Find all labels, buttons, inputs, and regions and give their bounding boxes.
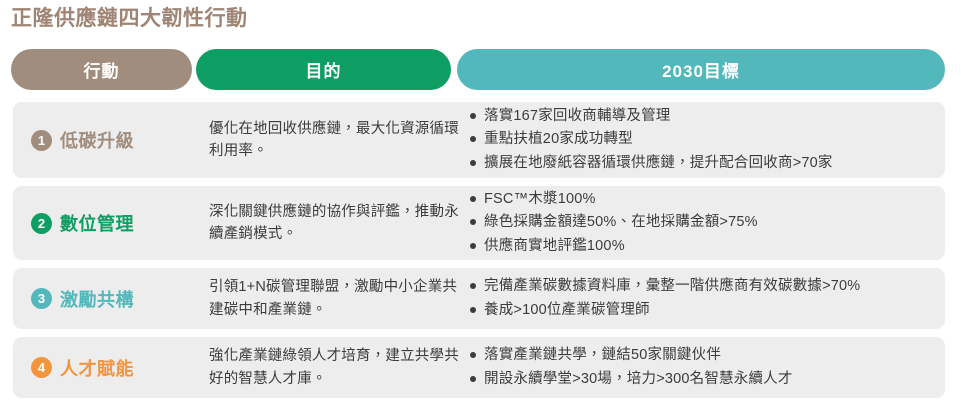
column-header-action: 行動 <box>11 49 192 90</box>
target-list-item: 重點扶植20家成功轉型 <box>470 128 945 151</box>
purpose-text: 優化在地回收供應鏈，最大化資源循環利用率。 <box>209 118 459 163</box>
purpose-cell: 深化關鍵供應鏈的協作與評鑑，推動永續產銷模式。 <box>209 186 459 260</box>
action-cell: 3 激勵共構 <box>13 268 196 329</box>
page-title: 正隆供應鏈四大韌性行動 <box>11 4 248 34</box>
target-list-item: 完備產業碳數據資料庫，彙整一階供應商有效碳數據>70% <box>470 275 945 298</box>
action-label: 人才賦能 <box>60 355 134 381</box>
supply-chain-resilience-infographic: 正隆供應鏈四大韌性行動 行動 目的 2030目標 1 低碳升級 優化在地回收供應… <box>0 0 961 409</box>
row-number-badge: 2 <box>31 213 52 234</box>
column-header-purpose: 目的 <box>196 49 451 90</box>
table-row: 4 人才賦能 強化產業鏈綠領人才培育，建立共學共好的智慧人才庫。 落實產業鏈共學… <box>13 337 945 398</box>
target-cell: 完備產業碳數據資料庫，彙整一階供應商有效碳數據>70% 養成>100位產業碳管理… <box>470 268 945 329</box>
target-list: FSC™木漿100% 綠色採購金額達50%、在地採購金額>75% 供應商實地評鑑… <box>470 188 945 258</box>
target-list: 完備產業碳數據資料庫，彙整一階供應商有效碳數據>70% 養成>100位產業碳管理… <box>470 275 945 322</box>
purpose-text: 強化產業鏈綠領人才培育，建立共學共好的智慧人才庫。 <box>209 345 459 390</box>
target-cell: 落實167家回收商輔導及管理 重點扶植20家成功轉型 擴展在地廢紙容器循環供應鏈… <box>470 102 945 178</box>
purpose-text: 深化關鍵供應鏈的協作與評鑑，推動永續產銷模式。 <box>209 201 459 246</box>
target-cell: 落實產業鏈共學，鏈結50家關鍵伙伴 開設永續學堂>30場，培力>300名智慧永續… <box>470 337 945 398</box>
target-cell: FSC™木漿100% 綠色採購金額達50%、在地採購金額>75% 供應商實地評鑑… <box>470 186 945 260</box>
target-list-item: 開設永續學堂>30場，培力>300名智慧永續人才 <box>470 368 945 391</box>
table-row: 3 激勵共構 引領1+N碳管理聯盟，激勵中小企業共建碳中和產業鏈。 完備產業碳數… <box>13 268 945 329</box>
action-label: 低碳升級 <box>60 127 134 153</box>
target-list-item: 綠色採購金額達50%、在地採購金額>75% <box>470 211 945 234</box>
target-list-item: 養成>100位產業碳管理師 <box>470 299 945 322</box>
target-list-item: 供應商實地評鑑100% <box>470 235 945 258</box>
row-number-badge: 4 <box>31 357 52 378</box>
target-list: 落實產業鏈共學，鏈結50家關鍵伙伴 開設永續學堂>30場，培力>300名智慧永續… <box>470 344 945 391</box>
action-label: 數位管理 <box>60 210 134 236</box>
row-number-badge: 1 <box>31 130 52 151</box>
action-label: 激勵共構 <box>60 286 134 312</box>
target-list-item: FSC™木漿100% <box>470 188 945 211</box>
action-cell: 1 低碳升級 <box>13 102 196 178</box>
target-list-item: 落實產業鏈共學，鏈結50家關鍵伙伴 <box>470 344 945 367</box>
target-list-item: 擴展在地廢紙容器循環供應鏈，提升配合回收商>70家 <box>470 152 945 175</box>
purpose-cell: 引領1+N碳管理聯盟，激勵中小企業共建碳中和產業鏈。 <box>209 268 459 329</box>
table-row: 1 低碳升級 優化在地回收供應鏈，最大化資源循環利用率。 落實167家回收商輔導… <box>13 102 945 178</box>
action-cell: 2 數位管理 <box>13 186 196 260</box>
action-cell: 4 人才賦能 <box>13 337 196 398</box>
purpose-cell: 強化產業鏈綠領人才培育，建立共學共好的智慧人才庫。 <box>209 337 459 398</box>
column-header-target: 2030目標 <box>457 49 945 90</box>
row-number-badge: 3 <box>31 288 52 309</box>
table-row: 2 數位管理 深化關鍵供應鏈的協作與評鑑，推動永續產銷模式。 FSC™木漿100… <box>13 186 945 260</box>
column-header-row: 行動 目的 2030目標 <box>0 49 961 92</box>
purpose-cell: 優化在地回收供應鏈，最大化資源循環利用率。 <box>209 102 459 178</box>
target-list-item: 落實167家回收商輔導及管理 <box>470 105 945 128</box>
purpose-text: 引領1+N碳管理聯盟，激勵中小企業共建碳中和產業鏈。 <box>209 276 459 321</box>
target-list: 落實167家回收商輔導及管理 重點扶植20家成功轉型 擴展在地廢紙容器循環供應鏈… <box>470 105 945 175</box>
